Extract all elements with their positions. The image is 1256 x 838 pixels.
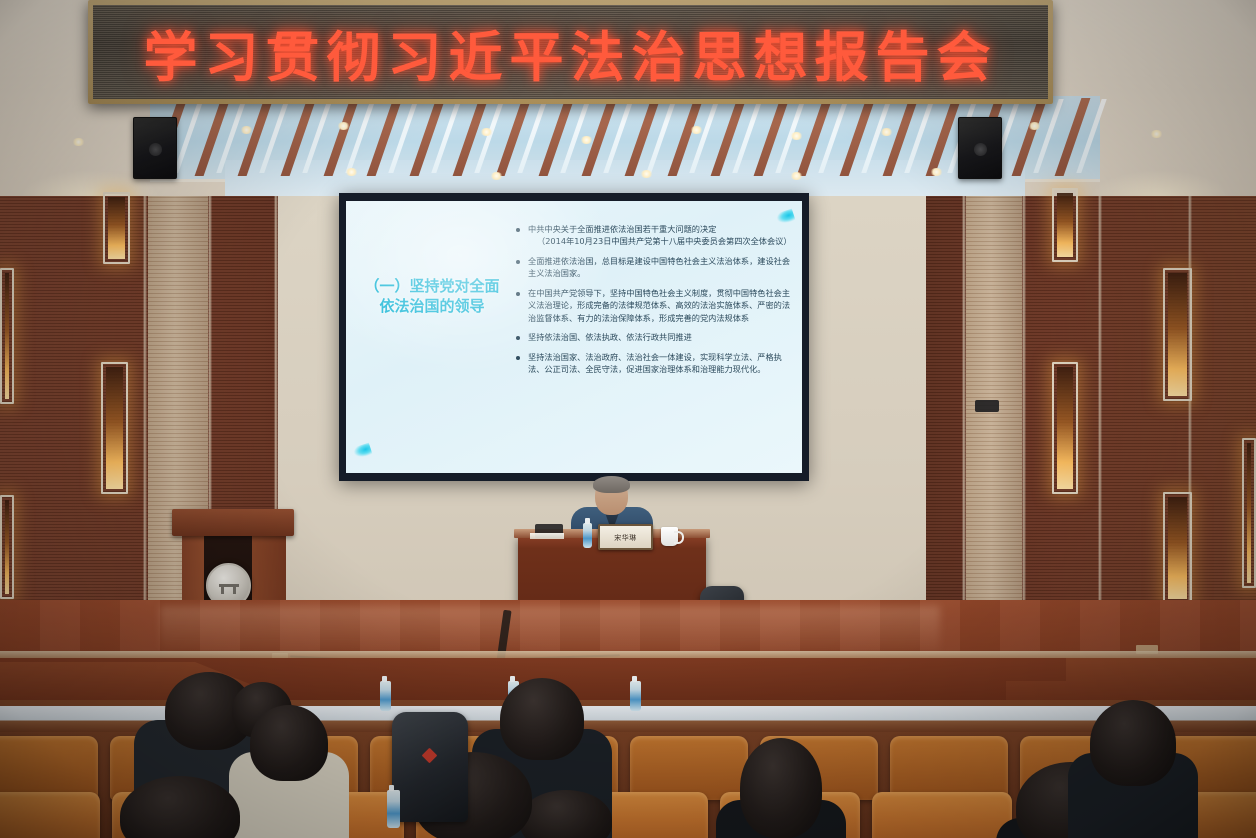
- audience-head: [500, 678, 584, 760]
- ceiling-speaker-right: [958, 117, 1002, 179]
- downlight: [790, 172, 803, 180]
- slide-bullet: 全面推进依法治国，总目标是建设中国特色社会主义法治体系，建设社会主义法治国家。: [514, 255, 792, 280]
- slide-bullet: 坚持依法治国、依法执政、依法行政共同推进: [514, 331, 792, 343]
- downlight: [337, 122, 350, 130]
- podium-top: [172, 509, 294, 536]
- wall-niche-8: [1163, 492, 1192, 604]
- ceiling-recess-inner: [225, 160, 1025, 196]
- projection-screen-frame: （一）坚持党对全面依法治国的领导 中共中央关于全面推进依法治国若干重大问题的决定…: [339, 193, 809, 481]
- wall-niche-6: [1163, 268, 1192, 401]
- slide-bullet: 在中国共产党领导下，坚持中国特色社会主义制度，贯彻中国特色社会主义法治理论，形成…: [514, 287, 792, 324]
- wall-niche-1: [103, 192, 130, 264]
- audience-head: [740, 738, 822, 838]
- downlight: [690, 126, 703, 134]
- speaker-hair: [593, 476, 630, 493]
- wall-niche-2: [101, 362, 128, 494]
- water-bottle-row-1: [380, 681, 391, 711]
- downlight: [72, 138, 85, 146]
- slide-bullet: 中共中央关于全面推进依法治国若干重大问题的决定（2014年10月23日中国共产党…: [514, 223, 792, 248]
- audience-seat: [0, 792, 100, 838]
- wall-panel-light-right: [966, 196, 1022, 666]
- downlight: [640, 170, 653, 178]
- wall-niche-7: [1052, 362, 1078, 494]
- downlight: [930, 168, 943, 176]
- auditorium-scene: 学习贯彻习近平法治思想报告会 （一）坚持党对全面依法治国的领导 中共中央关于全面…: [0, 0, 1256, 838]
- downlight: [790, 132, 803, 140]
- audience-seat: [0, 736, 98, 800]
- ceiling-speaker-left: [133, 117, 177, 179]
- downlight: [1150, 130, 1163, 138]
- audience-seat: [630, 736, 748, 800]
- wall-niche-4: [0, 495, 14, 599]
- wall-niche-5: [1052, 188, 1078, 262]
- audience-head: [1090, 700, 1176, 786]
- audience-seat: [890, 736, 1008, 800]
- backpack-logo-1: [422, 748, 438, 764]
- backpack-1: [392, 712, 468, 822]
- led-banner-text: 学习贯彻习近平法治思想报告会: [144, 13, 998, 92]
- water-bottle-row-3: [630, 681, 641, 711]
- slide-bullet-sub: （2014年10月23日中国共产党第十八届中央委员会第四次全体会议）: [528, 235, 792, 247]
- wall-mounted-device: [975, 400, 999, 412]
- downlight: [480, 128, 493, 136]
- coffee-mug: [661, 527, 678, 546]
- downlight: [345, 168, 358, 176]
- slide-bullet-list: 中共中央关于全面推进依法治国若干重大问题的决定（2014年10月23日中国共产党…: [514, 223, 792, 383]
- slide-bullet: 坚持法治国家、法治政府、法治社会一体建设，实现科学立法、严格执法、公正司法、全民…: [514, 351, 792, 376]
- nameplate: 宋华琳: [598, 524, 653, 550]
- wall-niche-9: [1242, 438, 1256, 588]
- led-banner-screen: 学习贯彻习近平法治思想报告会: [93, 5, 1048, 99]
- downlight: [240, 126, 253, 134]
- downlight: [880, 128, 893, 136]
- audience-seat: [872, 792, 1012, 838]
- slide-title: （一）坚持党对全面依法治国的领导: [364, 277, 500, 317]
- led-banner: 学习贯彻习近平法治思想报告会: [88, 0, 1053, 104]
- nameplate-text: 宋华琳: [600, 533, 651, 543]
- water-bottle-desk: [583, 523, 592, 548]
- wall-niche-3: [0, 268, 14, 404]
- downlight: [1028, 122, 1041, 130]
- downlight: [490, 172, 503, 180]
- documents: [530, 533, 564, 539]
- audience-head: [250, 705, 328, 781]
- downlight: [580, 136, 593, 144]
- water-bottle-seat: [387, 790, 400, 828]
- slide-decoration-bottom-left: [353, 443, 373, 460]
- projection-screen: （一）坚持党对全面依法治国的领导 中共中央关于全面推进依法治国若干重大问题的决定…: [346, 201, 802, 473]
